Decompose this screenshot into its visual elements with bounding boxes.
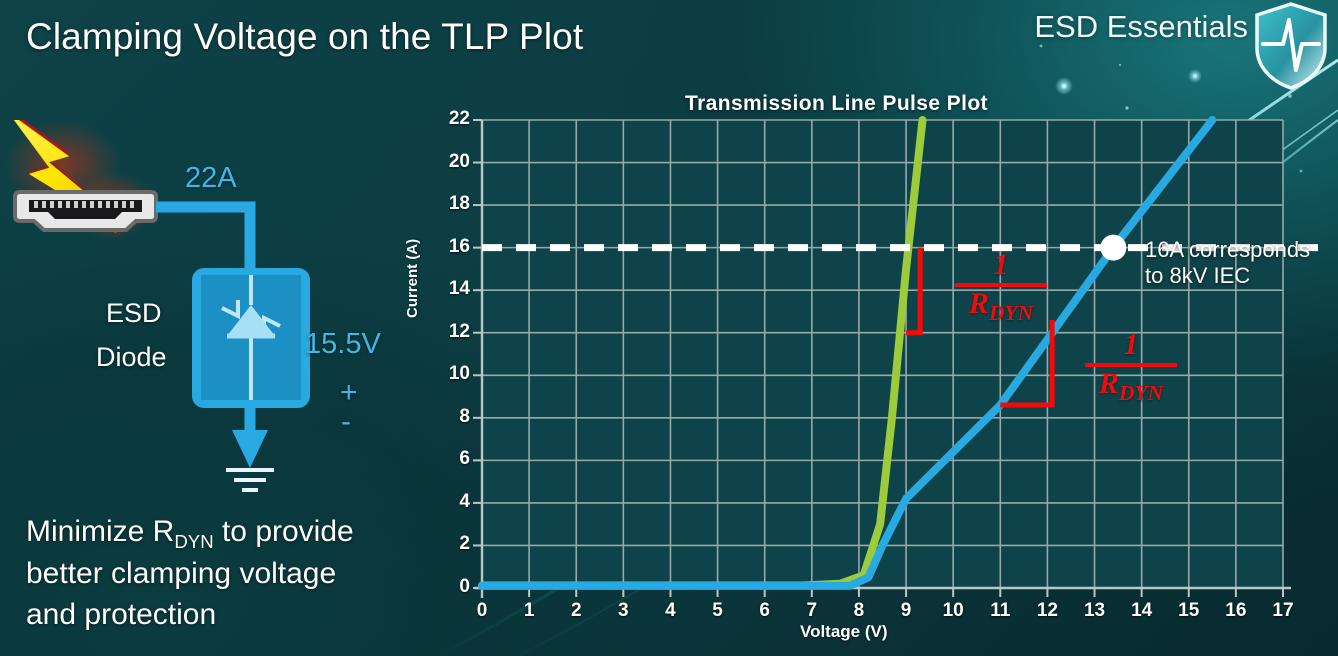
note-line1-b: to provide [214,515,354,548]
x-tick-label: 6 [750,600,780,622]
y-tick-label: 12 [436,321,470,343]
slide-canvas: Clamping Voltage on the TLP Plot ESD Ess… [0,0,1338,656]
x-tick-label: 9 [891,600,921,622]
chart-plot-area [410,90,1338,656]
shield-pulse-icon [1249,0,1333,94]
y-tick-label: 18 [436,193,470,215]
denominator-subscript: DYN [989,301,1033,325]
x-tick-label: 2 [561,600,591,622]
y-tick-label: 2 [436,533,470,555]
x-tick-label: 10 [938,600,968,622]
slope-marker-blue-label: 1 RDYN [1085,330,1177,405]
x-tick-label: 0 [467,600,497,622]
callout-line1: 16A corresponds [1145,237,1310,263]
x-tick-label: 15 [1174,600,1204,622]
slope-marker-green-label: 1 RDYN [955,250,1047,325]
y-tick-label: 16 [436,236,470,258]
ground-icon [226,470,274,490]
fraction-numerator: 1 [955,250,1047,280]
device-label-line2: Diode [96,342,167,373]
tvs-diode-icon [192,268,310,408]
denominator-subscript: DYN [1119,381,1163,405]
x-tick-label: 5 [703,600,733,622]
denominator-base: R [969,287,989,320]
note-line1-subscript: DYN [174,531,213,552]
x-tick-label: 3 [608,600,638,622]
x-tick-label: 7 [797,600,827,622]
note-line3: and protection [26,598,216,631]
y-tick-label: 10 [436,363,470,385]
y-tick-label: 20 [436,151,470,173]
note-line1-a: Minimize R [26,515,174,548]
esd-protection-diagram: 22A ESD Diode + 15.5V - [0,120,420,510]
device-label-line1: ESD [106,298,162,329]
polarity-minus-label: - [341,405,351,439]
x-tick-label: 11 [985,600,1015,622]
tlp-chart: Transmission Line Pulse Plot Current (A)… [410,90,1338,656]
clamping-voltage-label: 15.5V [305,328,381,361]
y-tick-label: 4 [436,491,470,513]
x-tick-label: 4 [655,600,685,622]
y-tick-label: 8 [436,406,470,428]
x-tick-label: 1 [514,600,544,622]
fraction-denominator: RDYN [955,289,1047,325]
signal-trace [156,207,250,268]
page-title: Clamping Voltage on the TLP Plot [26,16,583,58]
callout-16a: 16A corresponds to 8kV IEC [1145,237,1310,289]
y-tick-label: 14 [436,278,470,300]
denominator-base: R [1099,367,1119,400]
brand-title: ESD Essentials [1034,9,1248,45]
y-tick-label: 22 [436,108,470,130]
x-tick-label: 12 [1032,600,1062,622]
x-tick-label: 8 [844,600,874,622]
fraction-numerator: 1 [1085,330,1177,360]
note-line2: better clamping voltage [26,557,336,590]
callout-line2: to 8kV IEC [1145,263,1310,289]
ground-trace [226,408,274,490]
y-tick-label: 0 [436,576,470,598]
x-tick-label: 17 [1268,600,1298,622]
surge-current-label: 22A [185,162,237,195]
takeaway-note: Minimize RDYN to provide better clamping… [26,512,446,636]
hdmi-connector-icon [15,192,156,230]
x-tick-label: 16 [1221,600,1251,622]
x-tick-label: 13 [1080,600,1110,622]
clamping-point-marker [1100,235,1126,261]
x-tick-label: 14 [1127,600,1157,622]
y-tick-label: 6 [436,448,470,470]
fraction-denominator: RDYN [1085,369,1177,405]
